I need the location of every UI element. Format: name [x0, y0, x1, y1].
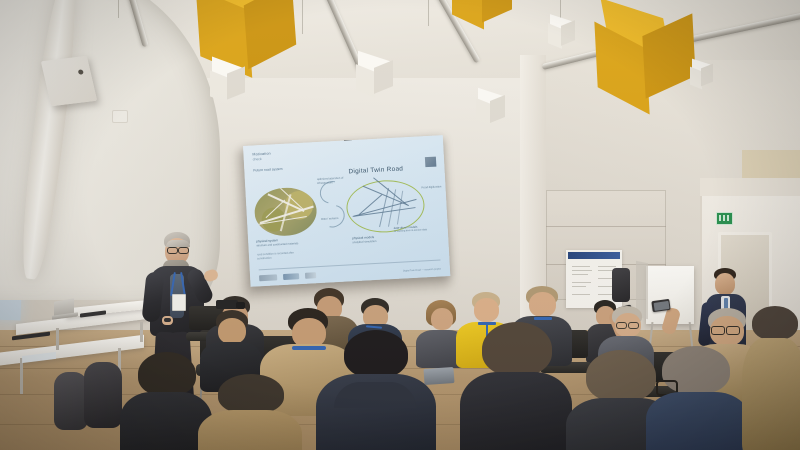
eyeglasses — [711, 326, 725, 335]
caption-road-digitization: Road digitization — [421, 185, 443, 190]
sponsor-logo-1 — [259, 274, 277, 281]
caption-optimized-operation: optimized operation of infrastructure — [317, 176, 347, 186]
poster-header-band — [568, 252, 620, 259]
audience-laptop[interactable] — [423, 367, 454, 385]
slide-footer-note: Digital Twin Road — research project — [403, 268, 441, 272]
presenter-glasses — [167, 247, 178, 254]
hanging-cube-white — [356, 56, 400, 100]
hanging-cube-white — [548, 18, 582, 52]
screenshot-root: Motivation check Future road system — [0, 0, 800, 450]
emergency-exit-sign — [716, 212, 733, 225]
backpack — [84, 362, 122, 428]
hanging-cube-yellow — [452, 0, 522, 30]
lanyard — [534, 317, 552, 320]
caption-physical-system-2: road condition is recorded after constru… — [257, 251, 307, 262]
audience-member-far-right — [742, 306, 800, 450]
camera-lens-icon — [236, 302, 245, 309]
sponsor-logo-2 — [283, 273, 299, 280]
camera-body — [216, 300, 238, 309]
pendant-wire — [428, 0, 429, 26]
sponsor-logo-3 — [305, 272, 316, 279]
audience-member-front-hood — [316, 330, 436, 450]
audience-member-front-left-2 — [198, 374, 302, 450]
eyeglasses — [628, 322, 639, 329]
slide-sponsor-logos — [259, 272, 316, 281]
aerial-interchange-photo — [253, 186, 318, 237]
presentation-clicker[interactable] — [164, 318, 171, 322]
hood — [334, 382, 416, 408]
eyeglasses — [616, 322, 627, 329]
backpack — [54, 372, 88, 430]
hanging-cube-white — [210, 62, 254, 106]
caption-data-driven-models: AI learning from in-service data — [394, 228, 436, 234]
slide-title: Digital Twin Road — [348, 165, 403, 175]
hanging-cube-yellow — [596, 10, 704, 118]
audience-member-front-glasses — [646, 346, 750, 450]
hanging-cube-white — [690, 62, 720, 92]
hanging-jacket — [612, 268, 630, 302]
presenter-glasses — [178, 247, 189, 254]
institution-logo — [425, 157, 437, 168]
projection-screen: Motivation check Future road system — [243, 135, 450, 287]
eyeglasses — [726, 326, 740, 335]
caption-physical-models: analytical simulation — [352, 239, 386, 245]
audience-member-front-right — [460, 322, 572, 450]
presenter-badge — [172, 294, 186, 311]
hanging-cube-white — [476, 92, 512, 128]
pendant-wire — [118, 0, 119, 18]
wall-speaker — [41, 56, 97, 106]
wall-control-box[interactable] — [112, 110, 128, 123]
